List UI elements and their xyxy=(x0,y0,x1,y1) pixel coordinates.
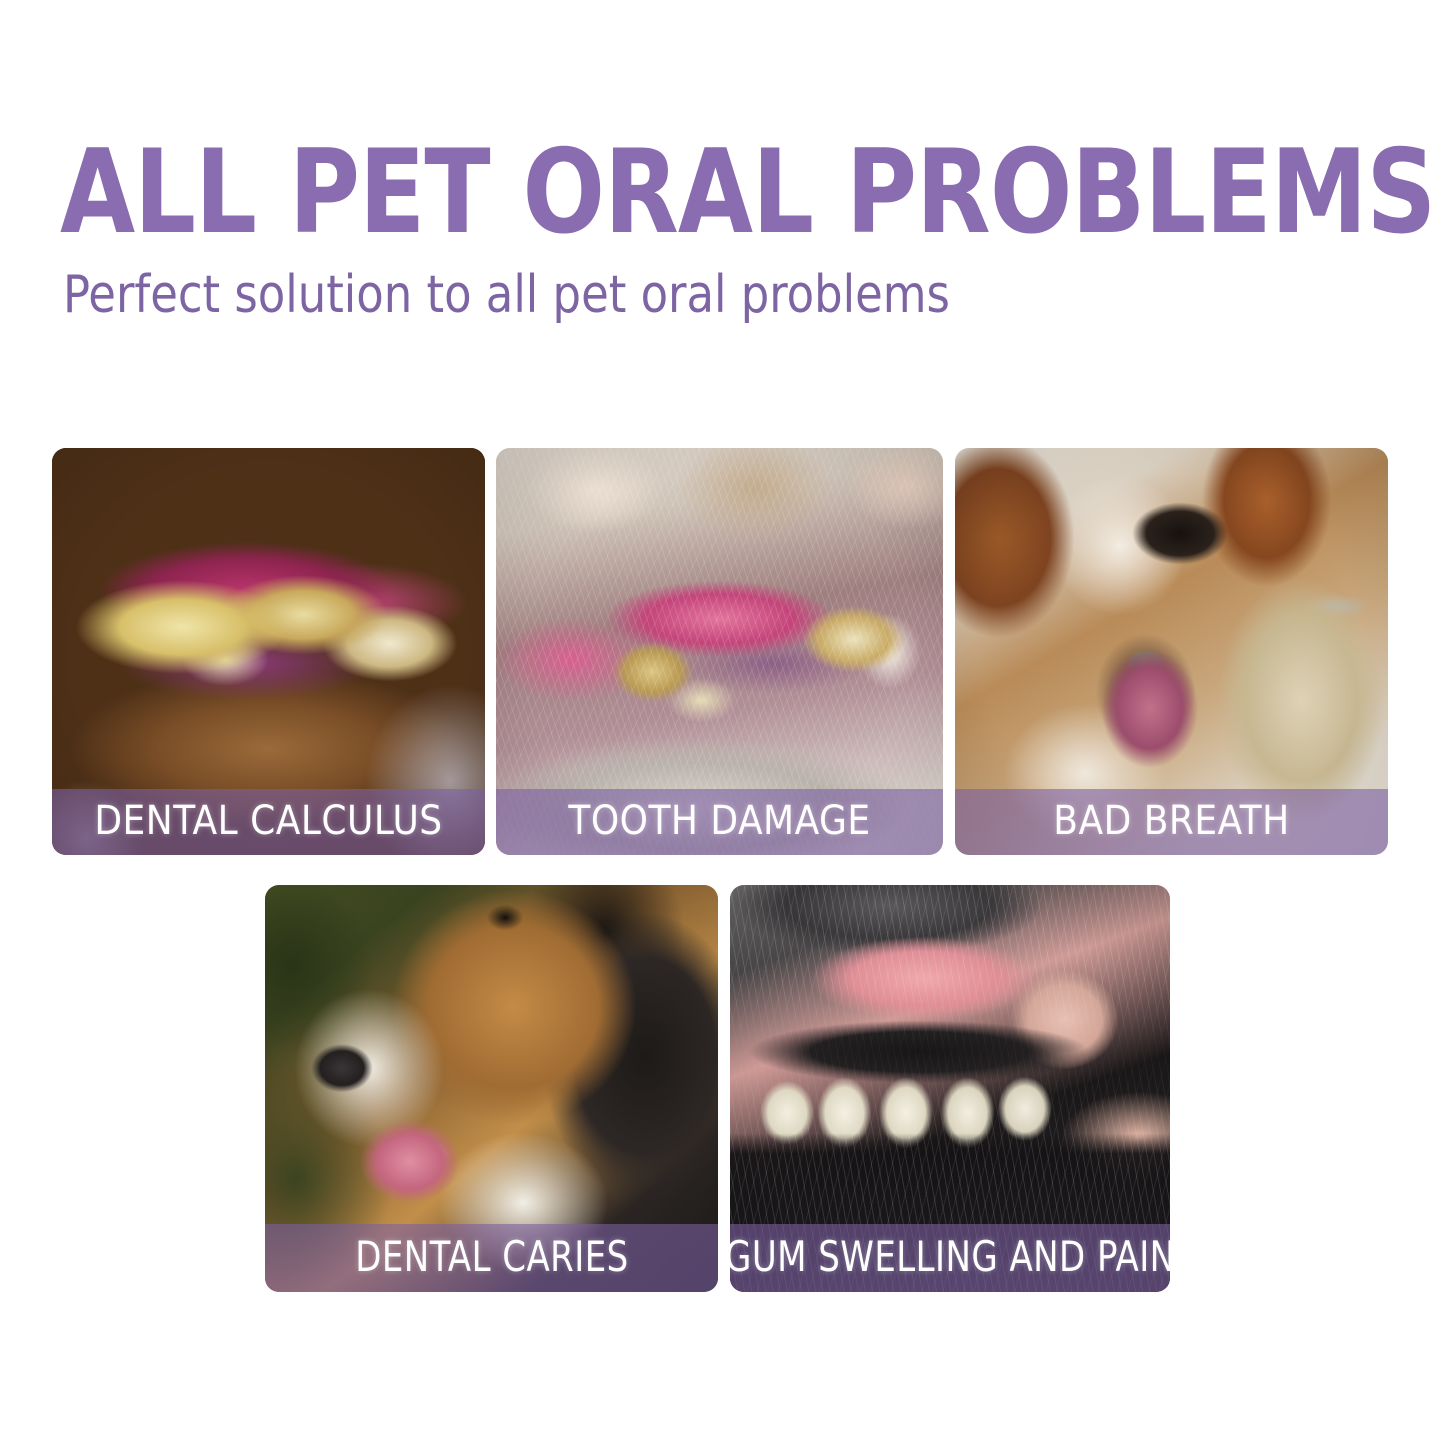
card-caption-label: TOOTH DAMAGE xyxy=(568,801,870,841)
caption-band: DENTAL CALCULUS xyxy=(52,789,485,855)
card-caption-label: GUM SWELLING AND PAIN xyxy=(730,1236,1170,1278)
infographic-page: ALL PET ORAL PROBLEMS Perfect solution t… xyxy=(0,0,1445,1445)
problem-card-tooth-damage[interactable]: TOOTH DAMAGE xyxy=(496,448,943,855)
caption-band: TOOTH DAMAGE xyxy=(496,789,943,855)
problem-card-dental-calculus[interactable]: DENTAL CALCULUS xyxy=(52,448,485,855)
card-caption-label: DENTAL CALCULUS xyxy=(94,801,442,841)
caption-band: DENTAL CARIES xyxy=(265,1224,718,1292)
problem-card-bad-breath[interactable]: BAD BREATH xyxy=(955,448,1388,855)
problem-card-dental-caries[interactable]: DENTAL CARIES xyxy=(265,885,718,1292)
problem-card-grid: DENTAL CALCULUS TOOTH DAMAGE BAD BREATH … xyxy=(0,0,1445,1445)
caption-band: GUM SWELLING AND PAIN xyxy=(730,1224,1170,1292)
card-caption-label: DENTAL CARIES xyxy=(355,1236,629,1278)
problem-card-gum-swelling[interactable]: GUM SWELLING AND PAIN xyxy=(730,885,1170,1292)
card-caption-label: BAD BREATH xyxy=(1053,801,1289,841)
caption-band: BAD BREATH xyxy=(955,789,1388,855)
